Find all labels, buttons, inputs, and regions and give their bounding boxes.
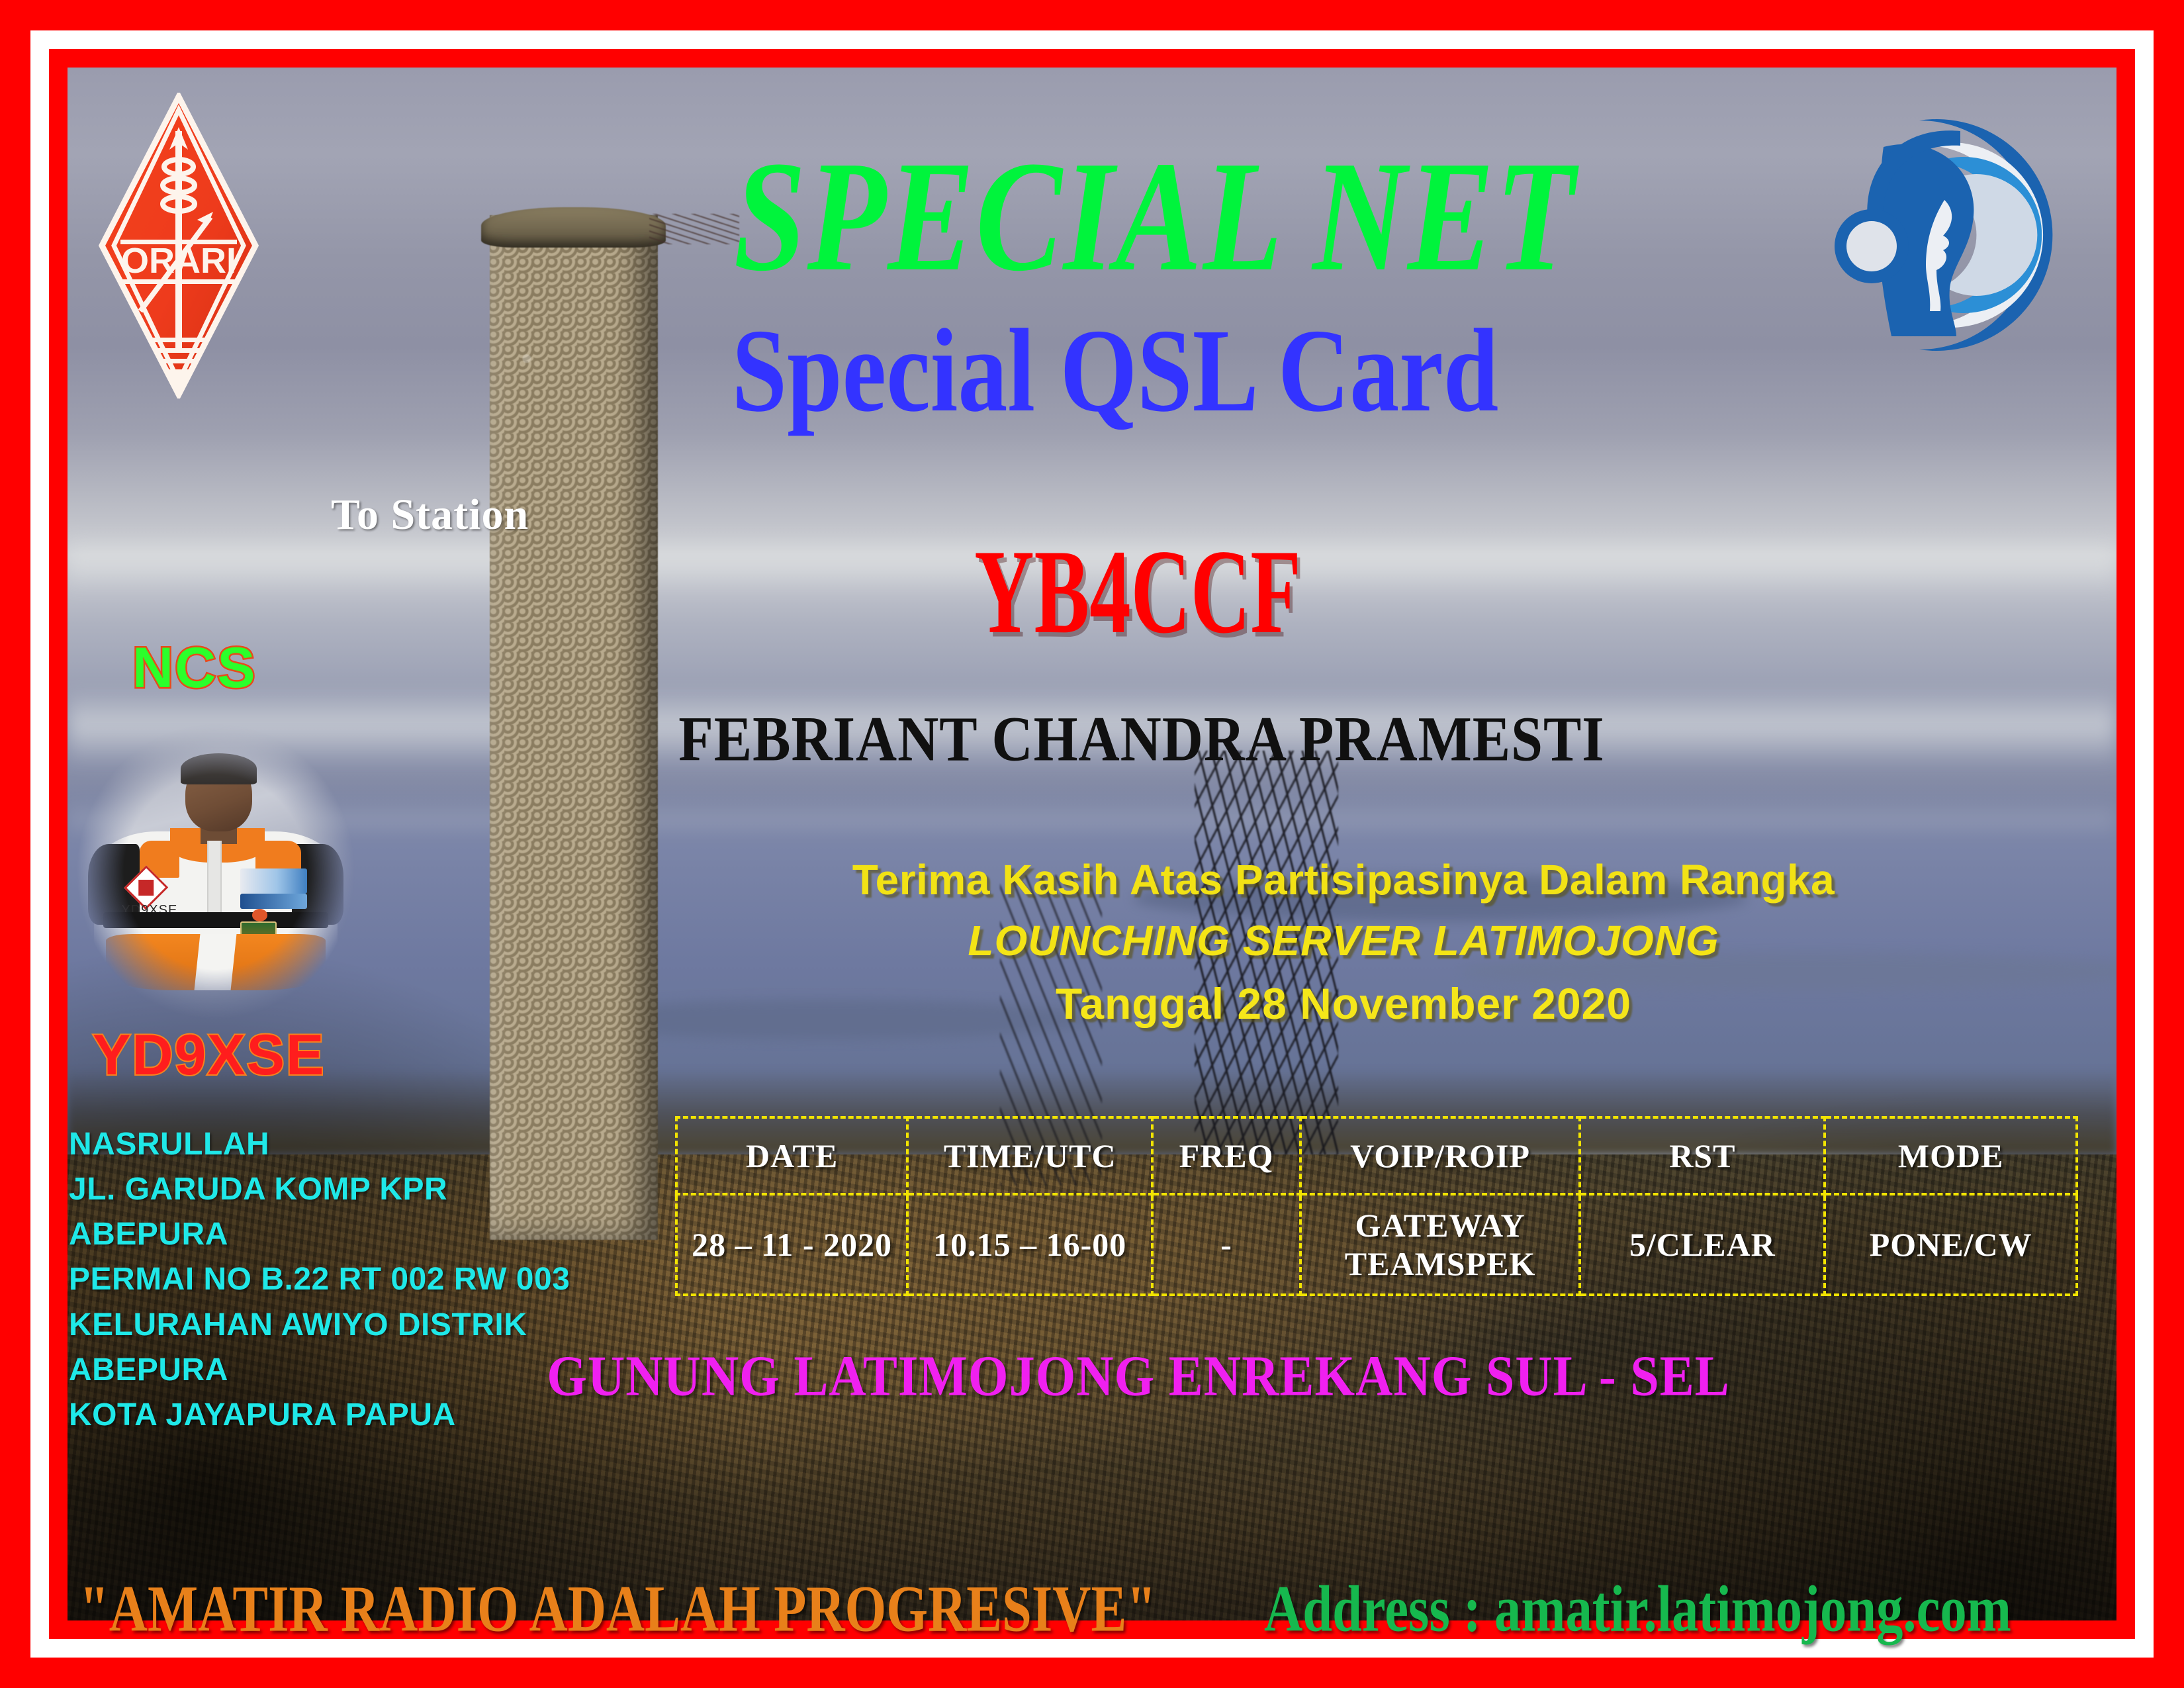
cell-mode: PONE/CW [1825, 1194, 2077, 1295]
column-header-time: TIME/UTC [907, 1117, 1152, 1194]
page-title: SPECIAL NET [0, 138, 2184, 296]
qso-log-table: DATE TIME/UTC FREQ VOIP/ROIP RST MODE 28… [675, 1116, 2078, 1296]
column-header-date: DATE [676, 1117, 907, 1194]
column-header-freq: FREQ [1152, 1117, 1300, 1194]
address-line: ABEPURA [69, 1212, 570, 1257]
ncs-operator-photo: YD9XSE [64, 716, 368, 1027]
ncs-label: NCS [132, 635, 257, 701]
station-callsign: YB4CCF [87, 523, 2097, 661]
cell-freq: - [1152, 1194, 1300, 1295]
cell-time: 10.15 – 16-00 [907, 1194, 1152, 1295]
column-header-rst: RST [1580, 1117, 1825, 1194]
cell-rst: 5/CLEAR [1580, 1194, 1825, 1295]
ncs-callsign: YD9XSE [93, 1023, 325, 1088]
footer-web-address: Address : amatir.latimojong.com [1264, 1571, 2011, 1647]
event-date-line: Tanggal 28 November 2020 [596, 978, 2091, 1029]
event-text-block: Terima Kasih Atas Partisipasinya Dalam R… [596, 855, 2091, 1029]
table-header-row: DATE TIME/UTC FREQ VOIP/ROIP RST MODE [676, 1117, 2077, 1194]
location-text: GUNUNG LATIMOJONG ENREKANG SUL - SEL [0, 1342, 2184, 1409]
address-line: JL. GARUDA KOMP KPR [69, 1167, 570, 1212]
cell-date: 28 – 11 - 2020 [676, 1194, 907, 1295]
event-thanks-line: Terima Kasih Atas Partisipasinya Dalam R… [596, 855, 2091, 904]
footer-motto: "AMATIR RADIO ADALAH PROGRESIVE" [79, 1571, 1156, 1647]
address-line: PERMAI NO B.22 RT 002 RW 003 [69, 1257, 570, 1302]
column-header-voip-roip: VOIP/ROIP [1300, 1117, 1580, 1194]
table-row: 28 – 11 - 2020 10.15 – 16-00 - GATEWAY T… [676, 1194, 2077, 1295]
address-line: NASRULLAH [69, 1122, 570, 1167]
column-header-mode: MODE [1825, 1117, 2077, 1194]
cell-voip-roip: GATEWAY TEAMSPEK [1300, 1194, 1580, 1295]
cell-voip-line2: TEAMSPEK [1302, 1244, 1578, 1283]
qsl-card: ORARI SPECI [0, 0, 2184, 1688]
address-line: KELURAHAN AWIYO DISTRIK [69, 1303, 570, 1348]
event-title-line: LOUNCHING SERVER LATIMOJONG [596, 916, 2091, 965]
page-subtitle: Special QSL Card [0, 311, 2184, 430]
cell-voip-line1: GATEWAY [1302, 1206, 1578, 1244]
